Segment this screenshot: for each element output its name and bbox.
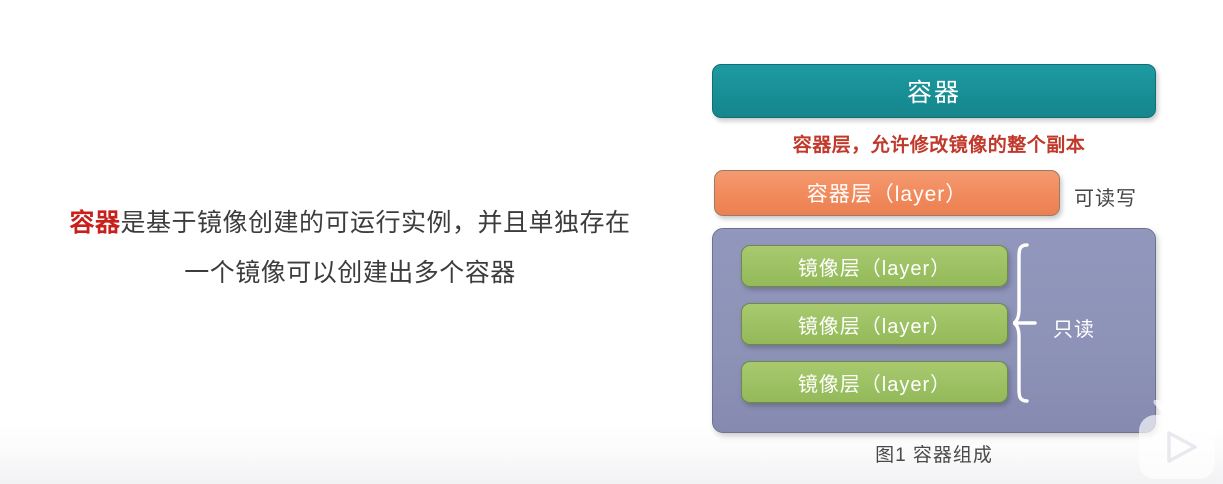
image-layer-label: 镜像层（layer） <box>798 252 951 281</box>
image-layer-box: 镜像层（layer） <box>741 361 1008 403</box>
container-layer-box: 容器层（layer） <box>714 170 1060 216</box>
container-layer-label: 容器层（layer） <box>807 178 968 208</box>
container-layer-annotation: 容器层，允许修改镜像的整个副本 <box>724 130 1154 157</box>
image-layers-panel: 镜像层（layer） 镜像层（layer） 镜像层（layer） 只读 <box>712 228 1156 433</box>
explanation-paragraph: 容器是基于镜像创建的可运行实例，并且单独存在 一个镜像可以创建出多个容器 <box>40 198 660 298</box>
read-write-label: 可读写 <box>1074 182 1137 211</box>
image-layer-box: 镜像层（layer） <box>741 303 1008 345</box>
image-layer-label: 镜像层（layer） <box>798 310 951 339</box>
container-title-box: 容器 <box>712 64 1156 118</box>
explanation-line-1-rest: 是基于镜像创建的可运行实例，并且单独存在 <box>121 209 631 237</box>
read-only-label: 只读 <box>1053 313 1095 342</box>
curly-brace-icon <box>1013 243 1047 403</box>
explanation-line-1: 容器是基于镜像创建的可运行实例，并且单独存在 <box>40 198 660 248</box>
slide-canvas: 容器是基于镜像创建的可运行实例，并且单独存在 一个镜像可以创建出多个容器 容器 … <box>0 0 1223 484</box>
explanation-line-2: 一个镜像可以创建出多个容器 <box>40 248 660 298</box>
image-layer-box: 镜像层（layer） <box>741 245 1008 287</box>
container-title-label: 容器 <box>907 73 961 109</box>
figure-caption: 图1 容器组成 <box>712 440 1156 467</box>
image-layer-label: 镜像层（layer） <box>798 368 951 397</box>
highlight-term: 容器 <box>69 209 120 237</box>
container-composition-diagram: 容器 容器层，允许修改镜像的整个副本 容器层（layer） 可读写 镜像层（la… <box>700 50 1180 480</box>
